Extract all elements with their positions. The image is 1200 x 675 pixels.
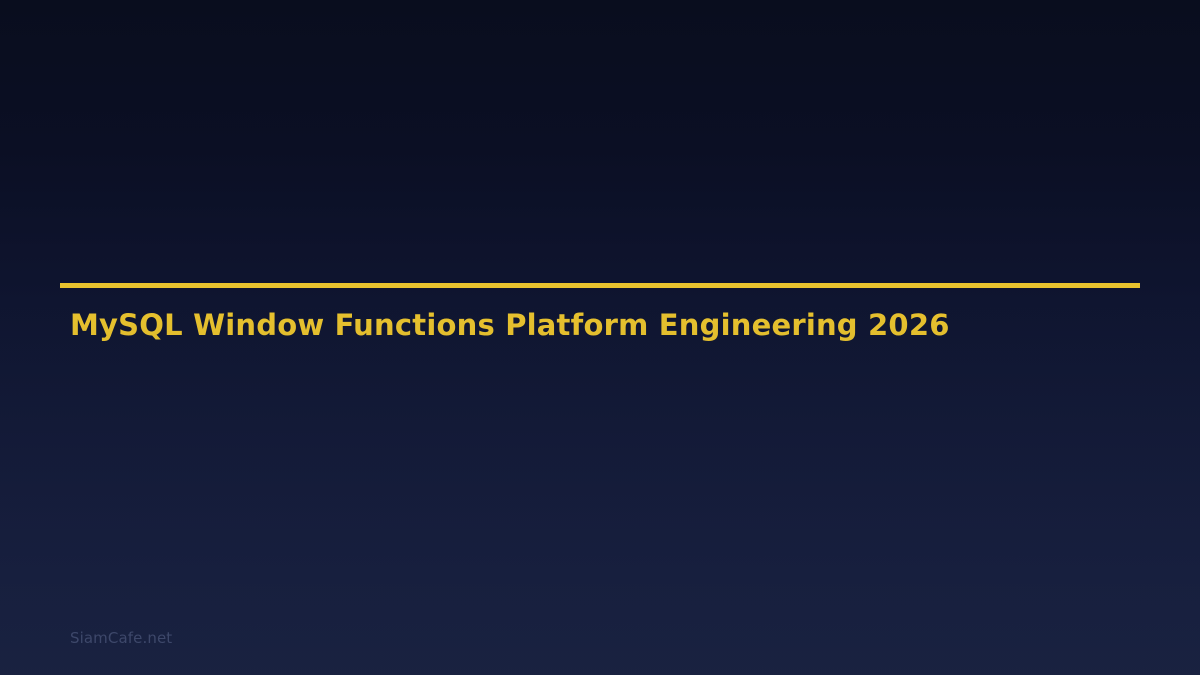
presentation-slide: MySQL Window Functions Platform Engineer…	[0, 0, 1200, 675]
title-block: MySQL Window Functions Platform Engineer…	[60, 283, 1140, 343]
page-title: MySQL Window Functions Platform Engineer…	[60, 288, 1140, 343]
footer-brand-label: SiamCafe.net	[70, 629, 172, 647]
